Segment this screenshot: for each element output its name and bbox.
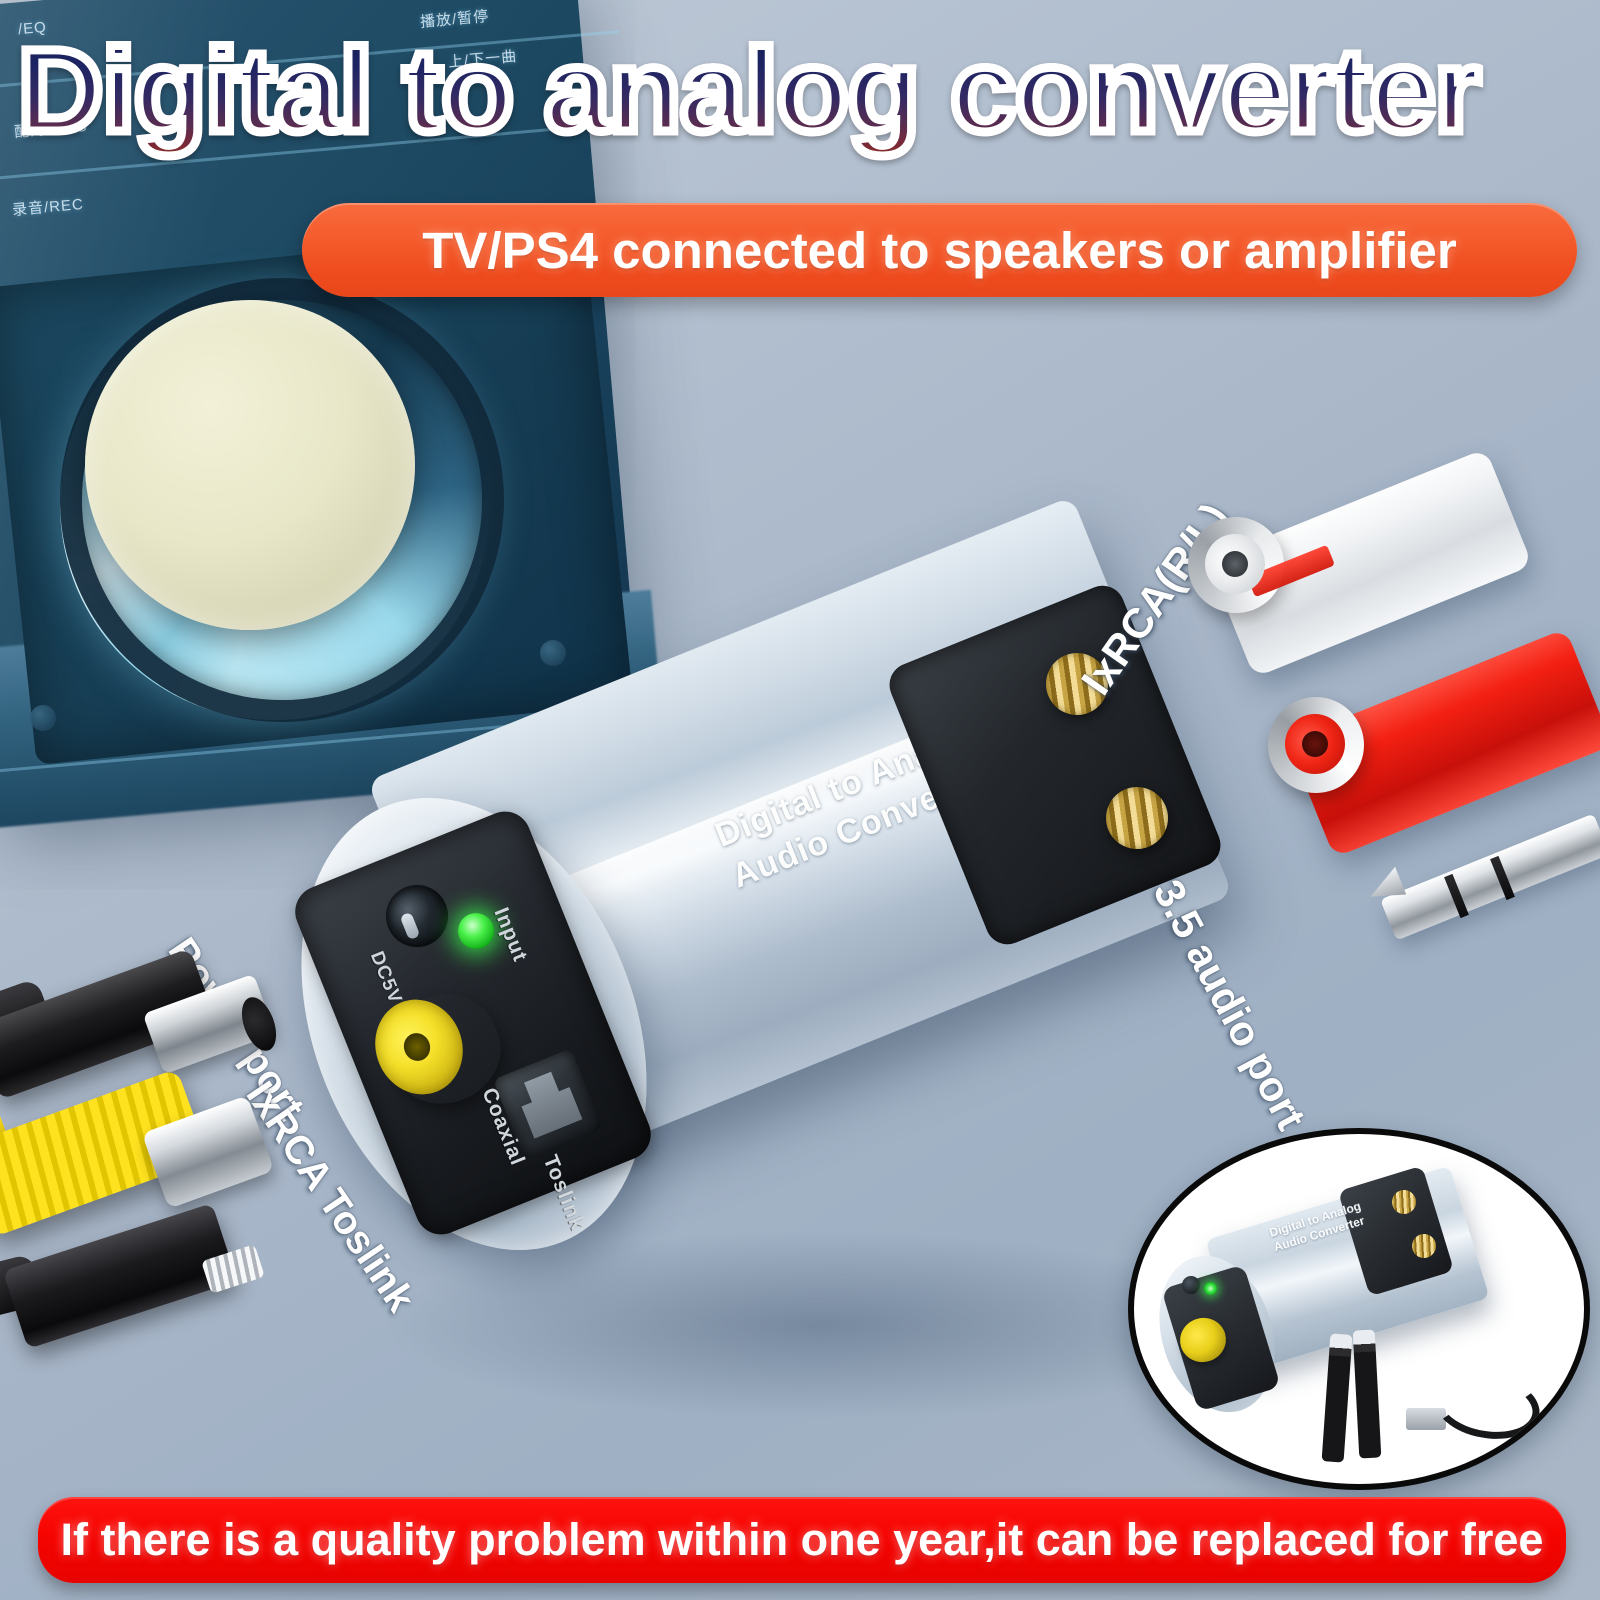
guarantee-banner: If there is a quality problem within one… [38,1497,1566,1583]
page-title: Digital to analog converter [18,28,1588,158]
dac-device: Digital to Analog Audio Converter DC5V I… [300,575,1300,1335]
inset-dc-jack [1182,1276,1200,1294]
toslink-plug-body[interactable] [3,1203,238,1349]
inset-led-indicator [1204,1282,1217,1295]
subheadline-banner: TV/PS4 connected to speakers or amplifie… [302,203,1577,297]
subheadline-text: TV/PS4 connected to speakers or amplifie… [422,221,1457,280]
speaker-screw [30,705,56,731]
page-title-text: Digital to analog converter [18,25,1479,157]
accessory-optical-cable-plug-a [1322,1333,1353,1462]
product-inset-oval: Digital to Analog Audio Converter [1128,1128,1590,1490]
rca-connector-white-hole [1222,551,1248,577]
aux-35mm-plug[interactable] [1380,814,1600,941]
accessory-usb-cable [1429,1365,1545,1446]
accessory-optical-cable-plug-b [1353,1330,1382,1459]
guarantee-text: If there is a quality problem within one… [61,1514,1544,1566]
power-led-indicator [458,913,494,949]
rca-connector-red-hole [1302,731,1328,757]
product-image-canvas: /EQ 配对/TWS 录音/REC 播放/暂停 上/下一曲 Digital to… [0,0,1600,1600]
